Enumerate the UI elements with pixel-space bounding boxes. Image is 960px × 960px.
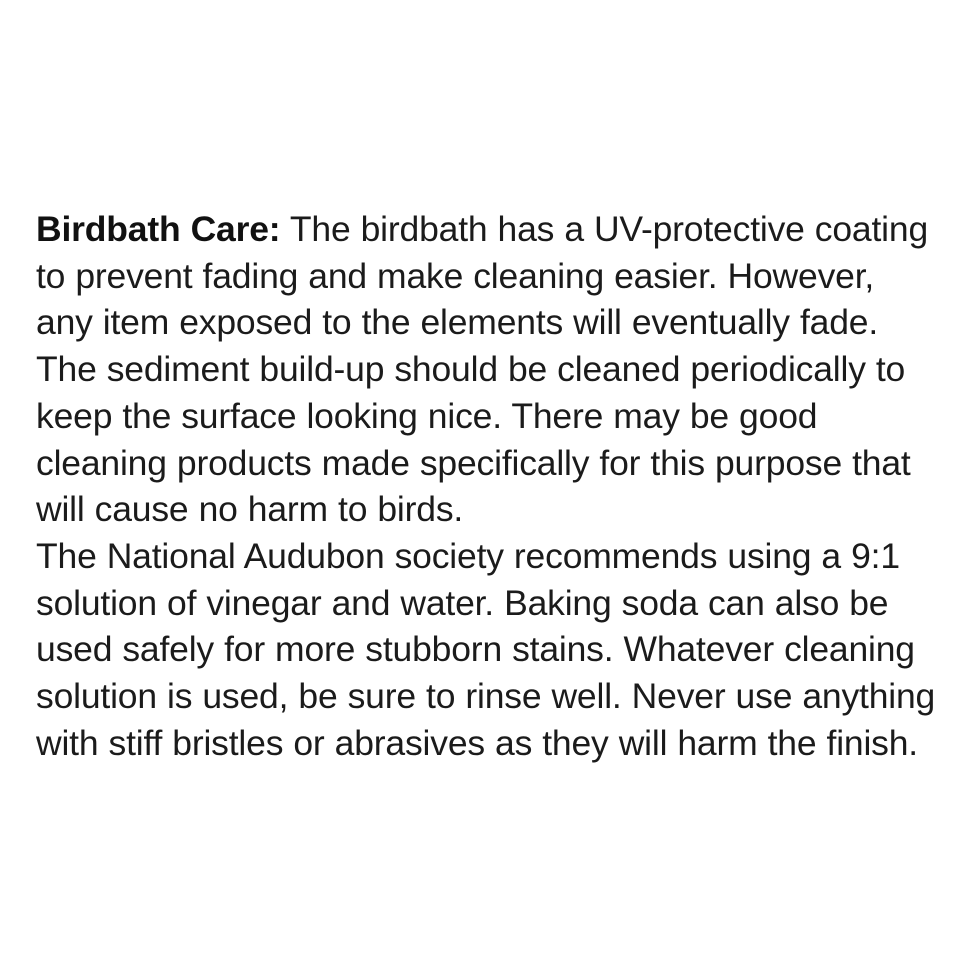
paragraph-birdbath-care: Birdbath Care: The birdbath has a UV-pro… [36,206,936,533]
paragraph-audubon-recommendation: The National Audubon society recommends … [36,533,936,767]
document-page: Birdbath Care: The birdbath has a UV-pro… [0,0,960,960]
paragraph-body-text: The National Audubon society recommends … [36,536,945,763]
birdbath-care-text-block: Birdbath Care: The birdbath has a UV-pro… [36,206,936,766]
paragraph-body-text: The birdbath has a UV-protective coating… [36,209,938,529]
paragraph-lead-label: Birdbath Care: [36,209,280,249]
